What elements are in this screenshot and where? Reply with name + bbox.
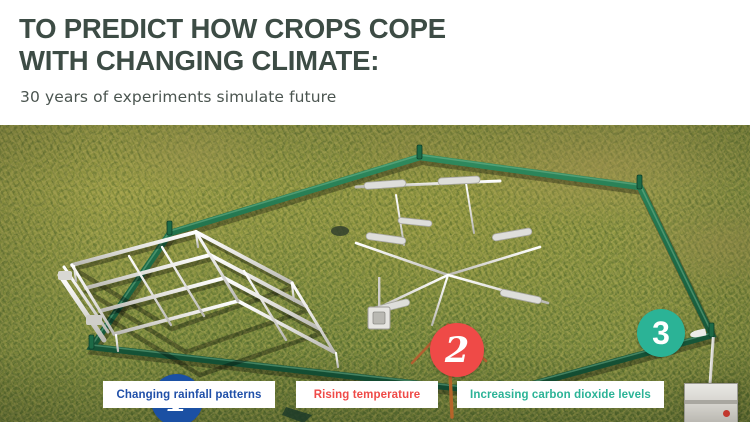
photo-canvas: [0, 125, 750, 422]
badge-2-temperature[interactable]: 2: [430, 323, 484, 377]
label-rising-temperature[interactable]: Rising temperature: [296, 381, 438, 408]
shelter-hose-boot: [282, 407, 312, 422]
infrared-heater-lamps: [364, 176, 542, 315]
badge-3-carbon-dioxide[interactable]: 3: [637, 309, 685, 357]
header: TO PREDICT HOW CROPS COPE WITH CHANGING …: [0, 0, 750, 125]
label-changing-rainfall-patterns[interactable]: Changing rainfall patterns: [103, 381, 275, 408]
infographic-root: TO PREDICT HOW CROPS COPE WITH CHANGING …: [0, 0, 750, 422]
heater-array-structure: [356, 181, 548, 325]
page-subtitle: 30 years of experiments simulate future: [20, 88, 336, 106]
label-increasing-carbon-dioxide-levels[interactable]: Increasing carbon dioxide levels: [457, 381, 664, 408]
cabinet-indicator-light: [723, 410, 730, 417]
legend-labels: Changing rainfall patterns Rising temper…: [0, 381, 750, 408]
rain-shelter-structure: [58, 232, 338, 375]
field-photo: 1 2 3: [0, 125, 750, 422]
field-structures: [0, 125, 750, 422]
page-title: TO PREDICT HOW CROPS COPE WITH CHANGING …: [19, 13, 719, 77]
sensor-head: [331, 226, 349, 236]
